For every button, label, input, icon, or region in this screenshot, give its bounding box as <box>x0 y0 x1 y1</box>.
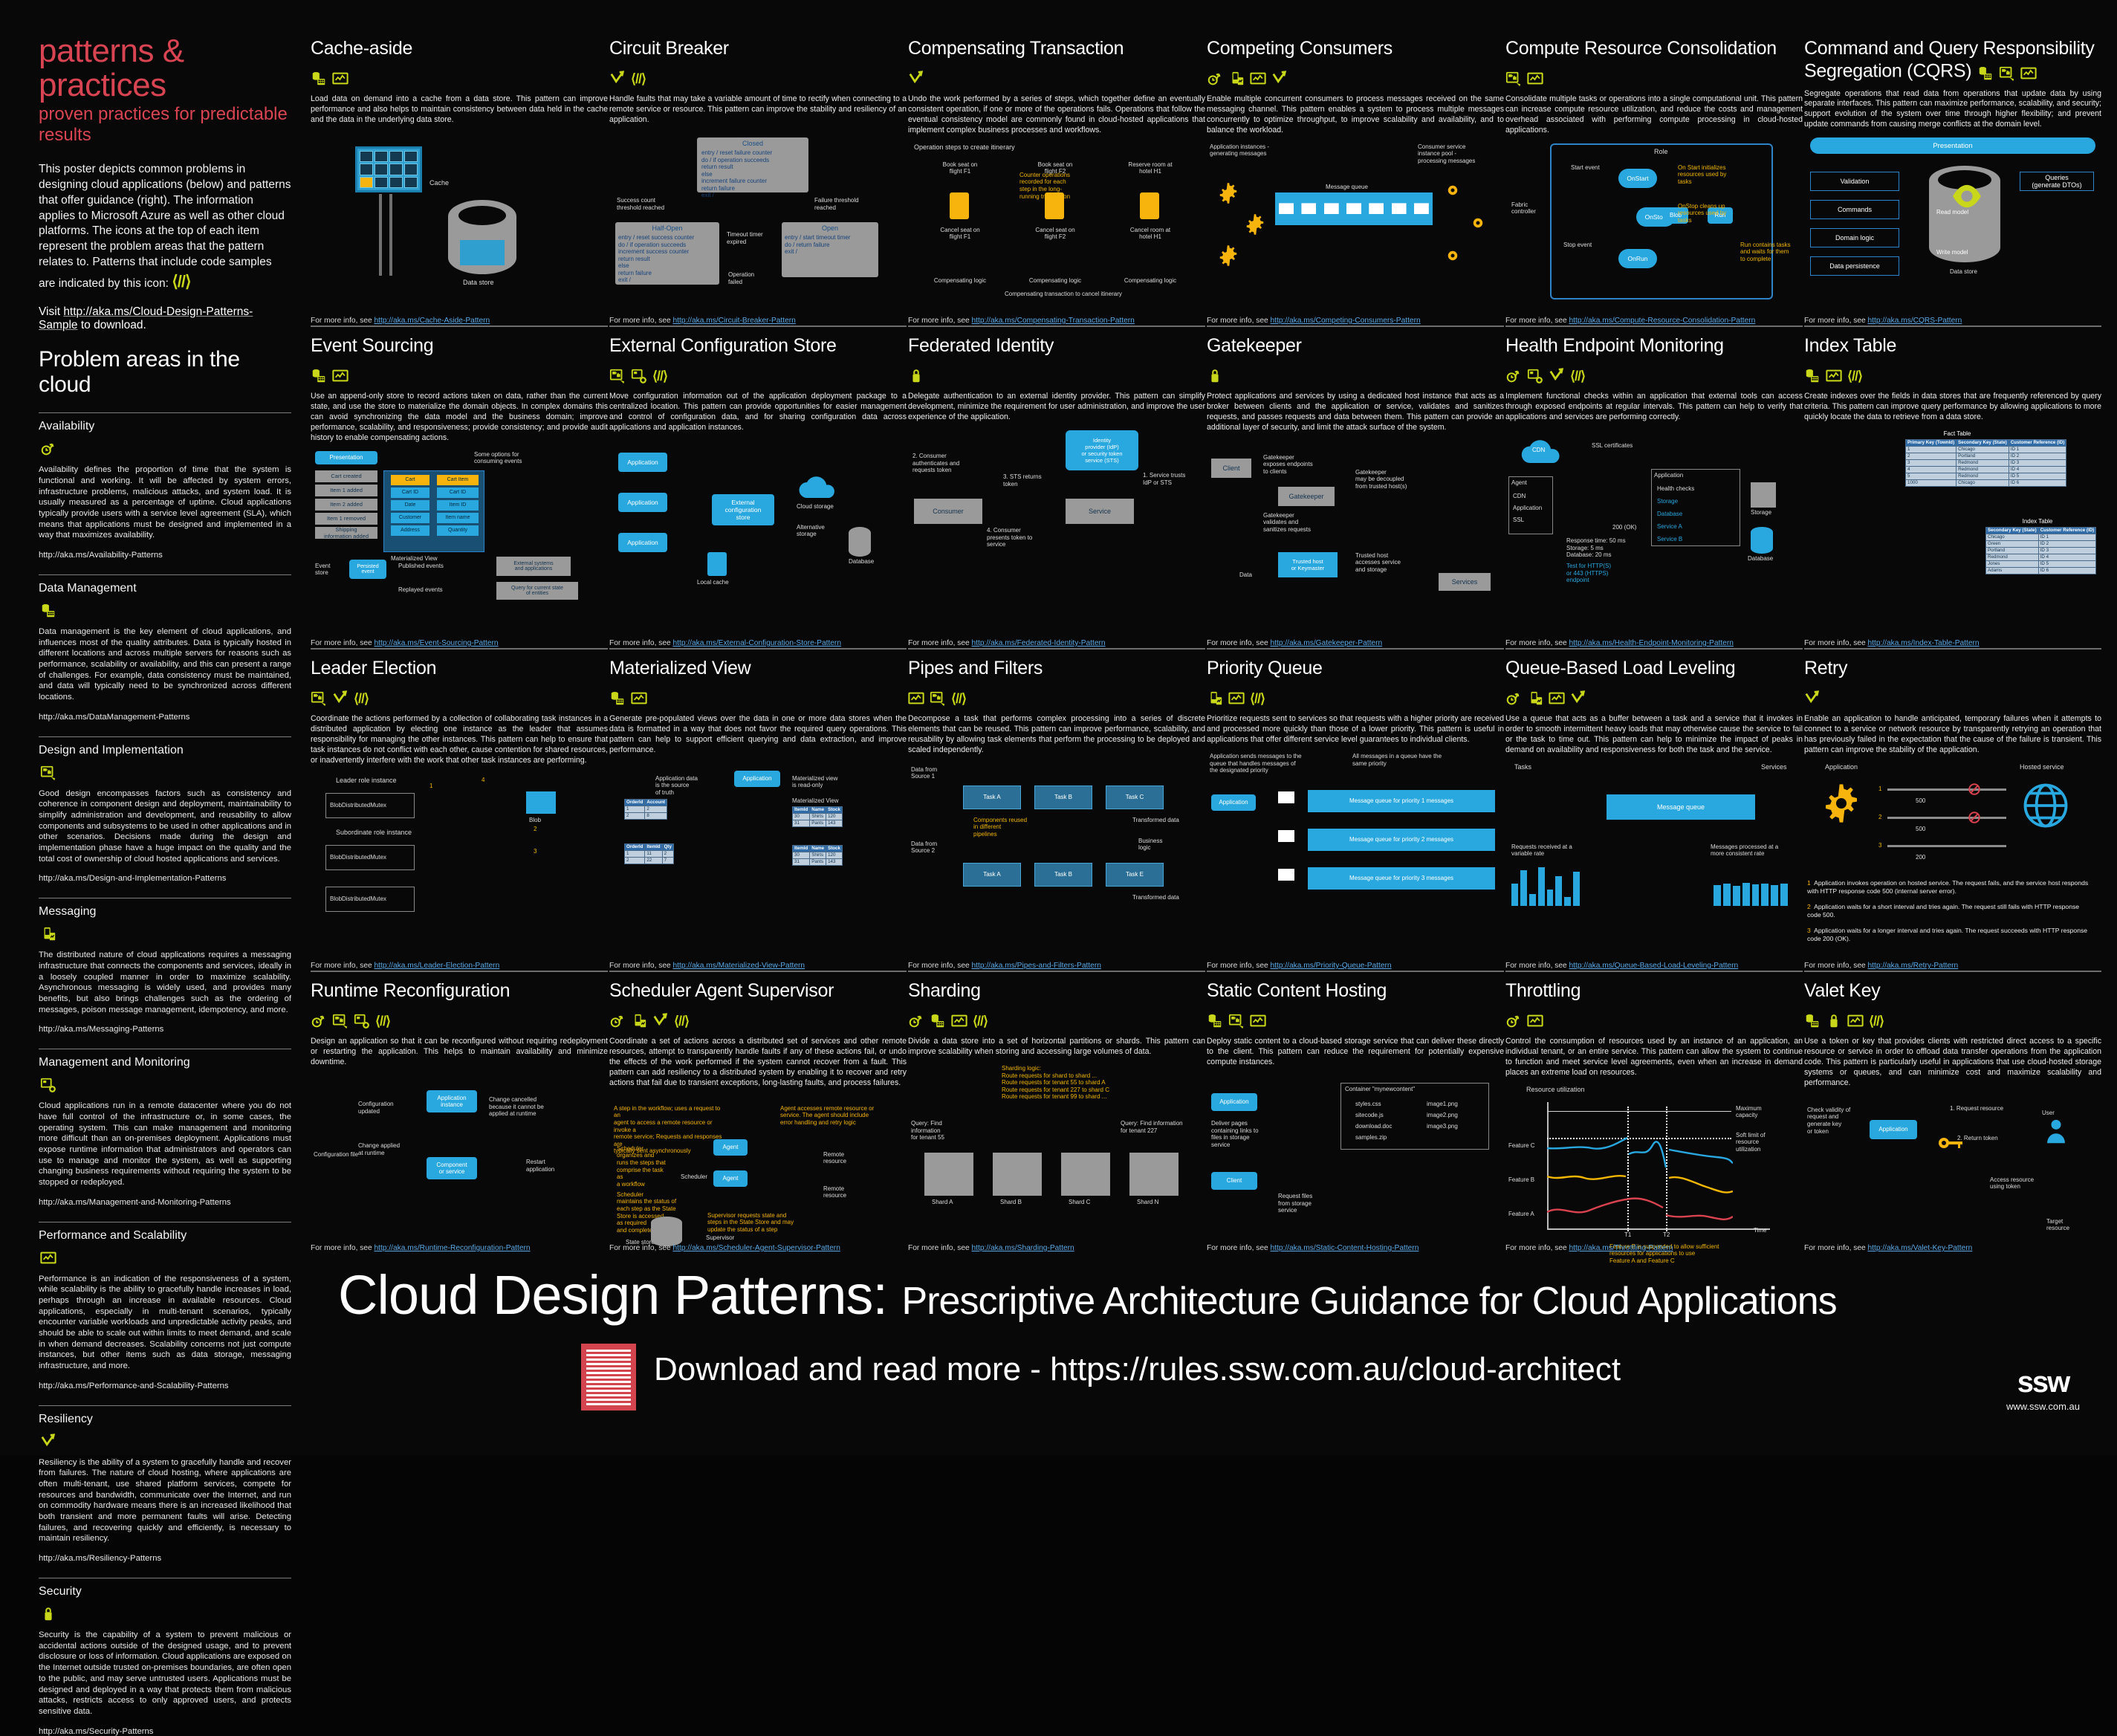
gk-trusted-host: Trusted host or Keymaster <box>1278 552 1338 577</box>
pf-out2: Business logic <box>1138 838 1176 852</box>
more-info-prefix: For more info, see <box>908 962 972 970</box>
ct-cancel-0: Cancel seat on flight F1 <box>923 227 997 241</box>
sas-n3: Scheduler organizes and runs the steps t… <box>617 1145 670 1188</box>
more-info-link[interactable]: http://aka.ms/Runtime-Reconfiguration-Pa… <box>375 1244 531 1252</box>
retry-code-1: 500 <box>1916 826 1925 833</box>
performance-icon <box>1250 1013 1266 1029</box>
le-blob-icon <box>526 791 556 814</box>
hem-app-box <box>1651 469 1740 546</box>
pattern-description: Handle faults that may take a variable a… <box>609 94 907 126</box>
le-num-3: 4 <box>482 777 484 784</box>
card-separator <box>908 648 1205 650</box>
pattern-card-materialized-view: Materialized ViewGenerate pre-populated … <box>609 658 907 981</box>
th-soft: Soft limit of resource utilization <box>1736 1132 1791 1153</box>
design-icon <box>1505 71 1522 87</box>
more-info: For more info, see http://aka.ms/Valet-K… <box>1804 1244 1972 1252</box>
data-management-icon <box>1804 368 1821 384</box>
crc-start: Start event <box>1571 164 1600 172</box>
gk-note5: Trusted host accesses service and storag… <box>1355 552 1430 574</box>
open-body: entry / start timeout timer do / return … <box>785 234 875 256</box>
sch-file-3: samples.zip <box>1355 1134 1387 1141</box>
pattern-icons <box>1207 1010 1504 1032</box>
pattern-diagram: Resource utilizationMaximum capacitySoft… <box>1505 1086 1803 1257</box>
data-management-icon <box>311 368 327 384</box>
sas-scheduler: Scheduler <box>681 1173 707 1181</box>
problem-icon-wrap <box>40 598 291 624</box>
sh-shard-label-1: Shard B <box>1000 1199 1022 1206</box>
more-info-link[interactable]: http://aka.ms/Materialized-View-Pattern <box>673 962 805 970</box>
pattern-header: Sharding <box>908 981 1205 1006</box>
ecs-localcache-icon <box>707 552 727 576</box>
ct-comp-0: Compensating logic <box>924 277 996 285</box>
ssw-url: www.ssw.com.au <box>2006 1401 2080 1412</box>
pattern-diagram: Sharding logic: Route requests for shard… <box>908 1065 1205 1236</box>
more-info: For more info, see http://aka.ms/Throttl… <box>1505 1244 1673 1252</box>
problem-link[interactable]: http://aka.ms/Design-and-Implementation-… <box>39 874 291 883</box>
ct-note: Counter operations recorded for each ste… <box>1019 172 1088 200</box>
card-separator <box>1505 325 1803 327</box>
problem-link[interactable]: http://aka.ms/Resiliency-Patterns <box>39 1554 291 1563</box>
pattern-title: Competing Consumers <box>1207 38 1393 59</box>
hem-check-4: Service B <box>1657 536 1682 543</box>
more-info-link[interactable]: http://aka.ms/Valet-Key-Pattern <box>1868 1244 1973 1252</box>
more-info-link[interactable]: http://aka.ms/Compute-Resource-Consolida… <box>1569 317 1756 325</box>
ecs-alt: Alternative storage <box>797 524 841 538</box>
more-info-link[interactable]: http://aka.ms/Index-Table-Pattern <box>1868 639 1980 647</box>
more-info-link[interactable]: http://aka.ms/Leader-Election-Pattern <box>375 962 500 970</box>
more-info-prefix: For more info, see <box>1505 639 1569 647</box>
sh-shard-box-0 <box>924 1153 973 1196</box>
pattern-header: Throttling <box>1505 981 1803 1006</box>
sidebar: patterns & practices proven practices fo… <box>39 34 291 1736</box>
sch-app: Application <box>1211 1093 1257 1111</box>
pattern-icons: ⟨//⟩ <box>609 68 907 90</box>
ct-header: Operation steps to create itinerary <box>914 143 1015 152</box>
pattern-diagram: ClientGatekeeperServicesTrusted host or … <box>1207 441 1504 652</box>
pattern-title: Health Endpoint Monitoring <box>1505 335 1724 356</box>
more-info: For more info, see http://aka.ms/Queue-B… <box>1505 962 1738 970</box>
retry-req-1 <box>1887 817 2006 819</box>
more-info: For more info, see http://aka.ms/Runtime… <box>311 1244 531 1252</box>
poster-title-main: Cloud Design Patterns: <box>338 1264 887 1326</box>
ct-step-0: Book seat on flight F1 <box>923 161 997 175</box>
more-info-link[interactable]: http://aka.ms/Retry-Pattern <box>1868 962 1959 970</box>
performance-icon <box>1527 71 1543 87</box>
more-info-link[interactable]: http://aka.ms/Queue-Based-Load-Leveling-… <box>1569 962 1739 970</box>
cqrs-queries: Queries (generate DTOs) <box>2020 172 2094 191</box>
le-mutex-3: BlobDistributedMutex <box>330 895 386 903</box>
footer: Cloud Design Patterns: Prescriptive Arch… <box>0 1256 2117 1455</box>
ecs-store: External configuration store <box>712 494 774 525</box>
problem-link[interactable]: http://aka.ms/Messaging-Patterns <box>39 1025 291 1034</box>
message-icon <box>40 926 56 942</box>
problem-icon-wrap <box>40 760 291 786</box>
it-fact-table: Primary Key (TownId)Secondary Key (State… <box>1905 439 2066 487</box>
problem-link[interactable]: http://aka.ms/Availability-Patterns <box>39 551 291 560</box>
pq-right: All messages in a queue have the same pr… <box>1352 753 1501 767</box>
rr-comp: Component or service <box>427 1157 477 1179</box>
more-info-link[interactable]: http://aka.ms/Pipes-and-Filters-Pattern <box>972 962 1101 970</box>
retry-gear-icon <box>1821 783 1862 824</box>
es-cart-0: Cart <box>391 475 429 485</box>
es-options: Some options for consuming events <box>474 451 548 465</box>
availability-icon <box>609 1013 626 1029</box>
pattern-description: Prioritize requests sent to services so … <box>1207 714 1504 745</box>
rr-chgcancel: Change cancelled because it cannot be ap… <box>489 1096 571 1118</box>
card-separator <box>311 971 608 972</box>
design-icon <box>1999 65 2015 82</box>
pattern-description: Protect applications and services by usi… <box>1207 392 1504 433</box>
pattern-diagram: ApplicationApplicationApplicationExterna… <box>609 441 907 652</box>
edge-success: Success count threshold reached <box>617 197 698 211</box>
sch-file-1: sitecode.js <box>1355 1112 1384 1119</box>
retry-req-0 <box>1887 788 2006 791</box>
pattern-title: Sharding <box>908 980 981 1001</box>
pattern-title: Queue-Based Load Leveling <box>1505 658 1735 678</box>
pattern-icons: ⟨//⟩ <box>1505 365 1803 387</box>
pattern-header: Index Table <box>1804 336 2101 361</box>
pattern-icons: ⟨//⟩ <box>311 687 608 710</box>
sch-file-2: download.doc <box>1355 1123 1392 1130</box>
pf-task1-0: Task A <box>963 786 1021 809</box>
blocked-icon-1 <box>1968 811 1981 824</box>
qbll-services: Services <box>1761 763 1787 771</box>
ecs-db-cylinder-icon <box>849 527 871 557</box>
sas-n5: Supervisor requests state and steps in t… <box>707 1212 811 1234</box>
data-management-icon <box>609 690 626 707</box>
sh-logic: Sharding logic: Route requests for shard… <box>1002 1065 1113 1101</box>
cc-queue-label: Message queue <box>1326 184 1368 191</box>
availability-icon <box>908 1013 924 1029</box>
pattern-description: Consolidate multiple tasks or operations… <box>1505 94 1803 136</box>
pq-queue-0: Message queue for priority 1 messages <box>1308 790 1495 812</box>
more-info-link[interactable]: http://aka.ms/CQRS-Pattern <box>1868 317 1962 325</box>
code-icon: ⟨//⟩ <box>1570 369 1585 383</box>
pattern-description: Deploy static content to a cloud-based s… <box>1207 1037 1504 1068</box>
retry-code-0: 500 <box>1916 797 1925 805</box>
ct-doc-icon-0 <box>950 192 969 219</box>
problem-body: Cloud applications run in a remote datac… <box>39 1101 291 1188</box>
pq-env-0-2 <box>1278 791 1294 803</box>
pf-src2: Data from Source 2 <box>911 841 956 855</box>
hem-agent-item-0: CDN <box>1513 493 1526 500</box>
pf-task2-2: Task E <box>1106 863 1164 887</box>
th-series-2: Feature A <box>1508 1211 1534 1218</box>
pattern-description: Enable an application to handle anticipa… <box>1804 714 2101 756</box>
more-info: For more info, see http://aka.ms/Static-… <box>1207 1244 1419 1252</box>
th-lines <box>1547 1104 1733 1231</box>
more-info-link[interactable]: http://aka.ms/Circuit-Breaker-Pattern <box>673 317 796 325</box>
pattern-card-federated-identity: Federated IdentityDelegate authenticatio… <box>908 336 1205 658</box>
cqrs-validation: Validation <box>1810 172 1899 191</box>
problem-link[interactable]: http://aka.ms/Security-Patterns <box>39 1727 291 1736</box>
more-info: For more info, see http://aka.ms/Event-S… <box>311 639 499 647</box>
more-info: For more info, see http://aka.ms/Health-… <box>1505 639 1734 647</box>
es-cart-4: Address <box>391 525 429 536</box>
pattern-description: Load data on demand into a cache from a … <box>311 94 608 126</box>
ssw-logo[interactable]: ssw www.ssw.com.au <box>2006 1366 2080 1412</box>
pattern-header: Queue-Based Load Leveling <box>1505 658 1803 684</box>
ct-step-2: Reserve room at hotel H1 <box>1113 161 1187 175</box>
code-icon: ⟨//⟩ <box>354 692 369 705</box>
pattern-diagram: CacheData store <box>311 133 608 319</box>
more-info-link[interactable]: http://aka.ms/Gatekeeper-Pattern <box>1271 639 1383 647</box>
problem-body: Data management is the key element of cl… <box>39 626 291 703</box>
pattern-header: Cache-aside <box>311 39 608 64</box>
es-materialized-label: Materialized View <box>391 555 438 563</box>
pf-task2-0: Task A <box>963 863 1021 887</box>
hem-check-0: Health checks <box>1657 485 1694 493</box>
problem-area-design-and-implementation: Design and ImplementationGood design enc… <box>39 736 291 884</box>
le-sub: Subordinate role instance <box>336 829 412 837</box>
halfopen-body: entry / reset success counter do / if op… <box>618 234 716 284</box>
card-separator <box>1505 971 1803 972</box>
hem-check-1: Storage <box>1657 498 1678 505</box>
it-index-table: Secondary Key (State)Customer Reference … <box>1985 527 2096 574</box>
cqrs-domain: Domain logic <box>1810 228 1899 247</box>
card-separator <box>609 971 907 972</box>
arrow-up <box>389 194 392 276</box>
more-info: For more info, see http://aka.ms/Priorit… <box>1207 962 1392 970</box>
pattern-header: Scheduler Agent Supervisor <box>609 981 907 1006</box>
more-info: For more info, see http://aka.ms/Materia… <box>609 962 805 970</box>
pattern-card-cqrs: Command and Query Responsibility Segrega… <box>1804 39 2101 336</box>
pq-left: Application sends messages to the queue … <box>1210 753 1302 774</box>
availability-icon <box>1207 71 1223 87</box>
more-info-prefix: For more info, see <box>1804 962 1868 970</box>
more-info-link[interactable]: http://aka.ms/Event-Sourcing-Pattern <box>375 639 499 647</box>
pattern-description: Enable multiple concurrent consumers to … <box>1207 94 1504 136</box>
pattern-card-leader-election: Leader Election⟨//⟩Coordinate the action… <box>311 658 608 981</box>
pattern-icons: ⟨//⟩ <box>1804 1010 2101 1032</box>
more-info: For more info, see http://aka.ms/Compute… <box>1505 317 1755 325</box>
performance-icon <box>332 368 348 384</box>
th-xlabel: Time <box>1754 1227 1766 1234</box>
mv-mv-label: Materialized View <box>792 797 839 805</box>
code-icon: ⟨//⟩ <box>1847 369 1862 383</box>
mv-table-t2: OrderIdItemIdQty11122227 <box>624 843 674 864</box>
hem-agent-item-1: Application <box>1513 505 1542 512</box>
availability-icon <box>1505 368 1522 384</box>
more-info-link[interactable]: http://aka.ms/Priority-Queue-Pattern <box>1271 962 1392 970</box>
edge-failure: Failure threshold reached <box>814 197 896 211</box>
clock-arrow-icon <box>40 441 56 457</box>
pattern-title: Valet Key <box>1804 980 1880 1001</box>
more-info-prefix: For more info, see <box>609 1244 673 1252</box>
pattern-header: Compensating Transaction <box>908 39 1205 64</box>
more-info-link[interactable]: http://aka.ms/Competing-Consumers-Patter… <box>1271 317 1421 325</box>
it-fact-title: Fact Table <box>1905 430 2009 437</box>
design-icon <box>609 368 626 384</box>
es-persisted: Persisted event <box>349 560 386 579</box>
pattern-header: Valet Key <box>1804 981 2101 1006</box>
vk-n4: Access resource using token <box>1990 1176 2043 1191</box>
code-icon: ⟨//⟩ <box>652 369 667 383</box>
more-info-link[interactable]: http://aka.ms/Compensating-Transaction-P… <box>972 317 1135 325</box>
crc-note-0: On Start initializes resources used by t… <box>1678 164 1740 186</box>
es-published: Published events <box>398 563 444 570</box>
performance-icon <box>1527 1013 1543 1029</box>
more-info-link[interactable]: http://aka.ms/Health-Endpoint-Monitoring… <box>1569 639 1734 647</box>
es-presentation: Presentation <box>315 451 377 464</box>
pattern-title: Priority Queue <box>1207 658 1323 678</box>
pattern-diagram: Check validity of request and generate k… <box>1804 1096 2101 1267</box>
more-info-prefix: For more info, see <box>609 317 673 325</box>
pf-task2-1: Task B <box>1034 863 1092 887</box>
sh-shard-label-3: Shard N <box>1137 1199 1158 1206</box>
more-info: For more info, see http://aka.ms/Gatekee… <box>1207 639 1382 647</box>
th-series-1: Feature B <box>1508 1176 1534 1184</box>
le-blob: Blob <box>529 817 541 824</box>
qbll-n2: Messages processed at a more consistent … <box>1711 843 1792 858</box>
qr-code[interactable] <box>581 1344 636 1410</box>
th-ylabel: Resource utilization <box>1526 1086 1585 1094</box>
pattern-header: Event Sourcing <box>311 336 608 361</box>
more-info: For more info, see http://aka.ms/Compens… <box>908 317 1135 325</box>
pattern-header: Command and Query Responsibility Segrega… <box>1804 39 2101 89</box>
es-replayed: Replayed events <box>398 586 443 594</box>
data-store-cylinder-icon <box>448 200 516 274</box>
code-icon: ⟨//⟩ <box>631 72 646 85</box>
pattern-card-pipes-and-filters: Pipes and Filters⟨//⟩Decompose a task th… <box>908 658 1205 981</box>
hem-check-3: Service A <box>1657 523 1682 531</box>
pattern-icons: ⟨//⟩ <box>908 687 1205 710</box>
cloud-icon <box>797 473 838 502</box>
more-info-link[interactable]: http://aka.ms/Federated-Identity-Pattern <box>972 639 1106 647</box>
pattern-card-competing-consumers: Competing ConsumersEnable multiple concu… <box>1207 39 1504 336</box>
more-info-link[interactable]: http://aka.ms/External-Configuration-Sto… <box>673 639 842 647</box>
hem-agent: Agent <box>1511 479 1527 487</box>
pattern-diagram: TasksMessage queueServicesRequests recei… <box>1505 763 1803 974</box>
problem-area-messaging: MessagingThe distributed nature of cloud… <box>39 898 291 1034</box>
es-query: Query for current state of entities <box>496 582 578 600</box>
rr-cfgupd: Configuration updated <box>358 1101 407 1115</box>
pf-out3: Transformed data <box>1132 894 1179 901</box>
globe-icon <box>2021 781 2070 830</box>
retry-step-1: 2 Application waits for a short interval… <box>1807 903 2094 919</box>
more-info-prefix: For more info, see <box>1207 639 1271 647</box>
more-info-prefix: For more info, see <box>1505 962 1569 970</box>
pattern-diagram: Application instances - generating messa… <box>1207 143 1504 329</box>
gear-monitor-icon <box>40 1077 56 1093</box>
code-icon: ⟨//⟩ <box>973 1014 988 1028</box>
vk-n2: 1. Request resource <box>1950 1105 2003 1112</box>
more-info-prefix: For more info, see <box>1207 317 1271 325</box>
pp-subtitle: proven practices for predictable results <box>39 104 291 146</box>
pattern-diagram: Data from Source 1Data from Source 2Task… <box>908 763 1205 974</box>
hem-storage-icon <box>1751 482 1776 508</box>
data-management-icon <box>1207 1013 1223 1029</box>
more-info: For more info, see http://aka.ms/Schedul… <box>609 1244 840 1252</box>
problem-link[interactable]: http://aka.ms/DataManagement-Patterns <box>39 713 291 722</box>
more-info: For more info, see http://aka.ms/Externa… <box>609 639 841 647</box>
performance-icon <box>2020 65 2037 82</box>
more-info-link[interactable]: http://aka.ms/Throttling-Pattern <box>1569 1244 1673 1252</box>
problem-list: AvailabilityAvailability defines the pro… <box>39 412 291 1735</box>
vk-user: User <box>2042 1110 2055 1117</box>
problem-link[interactable]: http://aka.ms/Management-and-Monitoring-… <box>39 1198 291 1207</box>
availability-icon <box>311 1013 327 1029</box>
pattern-card-scheduler-agent-supervisor: Scheduler Agent Supervisor⟨//⟩Coordinate… <box>609 981 907 1263</box>
pattern-icons: ⟨//⟩ <box>1207 687 1504 710</box>
design-icon <box>1228 1013 1245 1029</box>
pattern-card-circuit-breaker: Circuit Breaker⟨//⟩Handle faults that ma… <box>609 39 907 336</box>
more-info: For more info, see http://aka.ms/CQRS-Pa… <box>1804 317 1962 325</box>
cc-consumer-gear-1 <box>1467 212 1489 234</box>
sh-shard-label-2: Shard C <box>1069 1199 1090 1206</box>
availability-icon <box>1505 1013 1522 1029</box>
rr-restart: Restart application <box>526 1159 572 1173</box>
resiliency-icon <box>332 690 348 707</box>
pattern-diagram: Application data is the source of truthA… <box>609 763 907 974</box>
pattern-card-static-content-hosting: Static Content HostingDeploy static cont… <box>1207 981 1504 1263</box>
resiliency-icon <box>609 71 626 87</box>
performance-icon <box>332 71 348 87</box>
pattern-diagram: RoleStart eventStop eventFabric controll… <box>1505 143 1803 329</box>
pattern-diagram: ApplicationHosted service1500250032001 A… <box>1804 763 2101 974</box>
pattern-icons <box>609 687 907 710</box>
fi-step2: 2. Consumer authenticates and requests t… <box>912 453 987 474</box>
pattern-icons: ⟨//⟩ <box>908 1010 1205 1032</box>
cc-gear-1 <box>1244 213 1266 236</box>
pattern-title: Runtime Reconfiguration <box>311 980 510 1001</box>
download-line[interactable]: Download and read more - https://rules.s… <box>654 1351 1621 1388</box>
mv-table-t1: OrderIdAccount1228 <box>624 799 667 820</box>
security-icon <box>1207 368 1223 384</box>
more-info-link[interactable]: http://aka.ms/Static-Content-Hosting-Pat… <box>1271 1244 1419 1252</box>
hem-resp: Response time: 50 ms Storage: 5 ms Datab… <box>1566 537 1629 559</box>
sas-remote-1: Remote resource <box>823 1151 866 1165</box>
more-info-prefix: For more info, see <box>311 317 375 325</box>
more-info-prefix: For more info, see <box>311 962 375 970</box>
pattern-header: Federated Identity <box>908 336 1205 361</box>
more-info-link[interactable]: http://aka.ms/Scheduler-Agent-Supervisor… <box>673 1244 840 1252</box>
gk-note2: Gatekeeper validates and sanitizes reque… <box>1263 512 1335 534</box>
problem-body: Security is the capability of a system t… <box>39 1630 291 1717</box>
card-separator <box>311 325 608 327</box>
more-info-link[interactable]: http://aka.ms/Cache-Aside-Pattern <box>375 317 490 325</box>
performance-icon <box>1250 71 1266 87</box>
pf-src1: Data from Source 1 <box>911 766 956 780</box>
sch-n1: Deliver pages containing links to files … <box>1211 1120 1271 1148</box>
card-separator <box>1505 648 1803 650</box>
design-icon <box>311 690 327 707</box>
es-cart-2: Date <box>391 500 429 511</box>
es-eventstore: Event store <box>315 563 345 577</box>
design-board-icon <box>40 765 56 781</box>
es-item-0: Cart Item <box>437 475 479 485</box>
pattern-title: Leader Election <box>311 658 436 678</box>
data-management-icon <box>930 1013 946 1029</box>
fi-step3: 3. STS returns token <box>1003 473 1055 488</box>
retry-step-0: 1 Application invokes operation on hoste… <box>1807 879 2094 895</box>
performance-icon <box>1228 690 1245 707</box>
pattern-description: Use a token or key that provides clients… <box>1804 1037 2101 1089</box>
crc-note-2: Run contains tasks and waits for them to… <box>1740 242 1803 263</box>
data-management-icon <box>311 71 327 87</box>
vk-n3: 2. Return token <box>1957 1135 1998 1142</box>
code-sample-icon: ⟨//⟩ <box>172 272 190 291</box>
more-info-link[interactable]: http://aka.ms/Sharding-Pattern <box>972 1244 1074 1252</box>
poster-title-sub: Prescriptive Architecture Guidance for C… <box>902 1280 1837 1323</box>
le-num-2: 3 <box>534 848 536 855</box>
pattern-card-valet-key: Valet Key⟨//⟩Use a token or key that pro… <box>1804 981 2101 1263</box>
es-cart-1: Cart ID <box>391 488 429 498</box>
mv-view: Materialized view is read-only <box>792 775 855 789</box>
sh-q2: Query: Find information for tenant 227 <box>1121 1120 1195 1134</box>
pattern-card-external-configuration-store: External Configuration Store⟨//⟩Move con… <box>609 336 907 658</box>
problem-body: Availability defines the proportion of t… <box>39 464 291 541</box>
